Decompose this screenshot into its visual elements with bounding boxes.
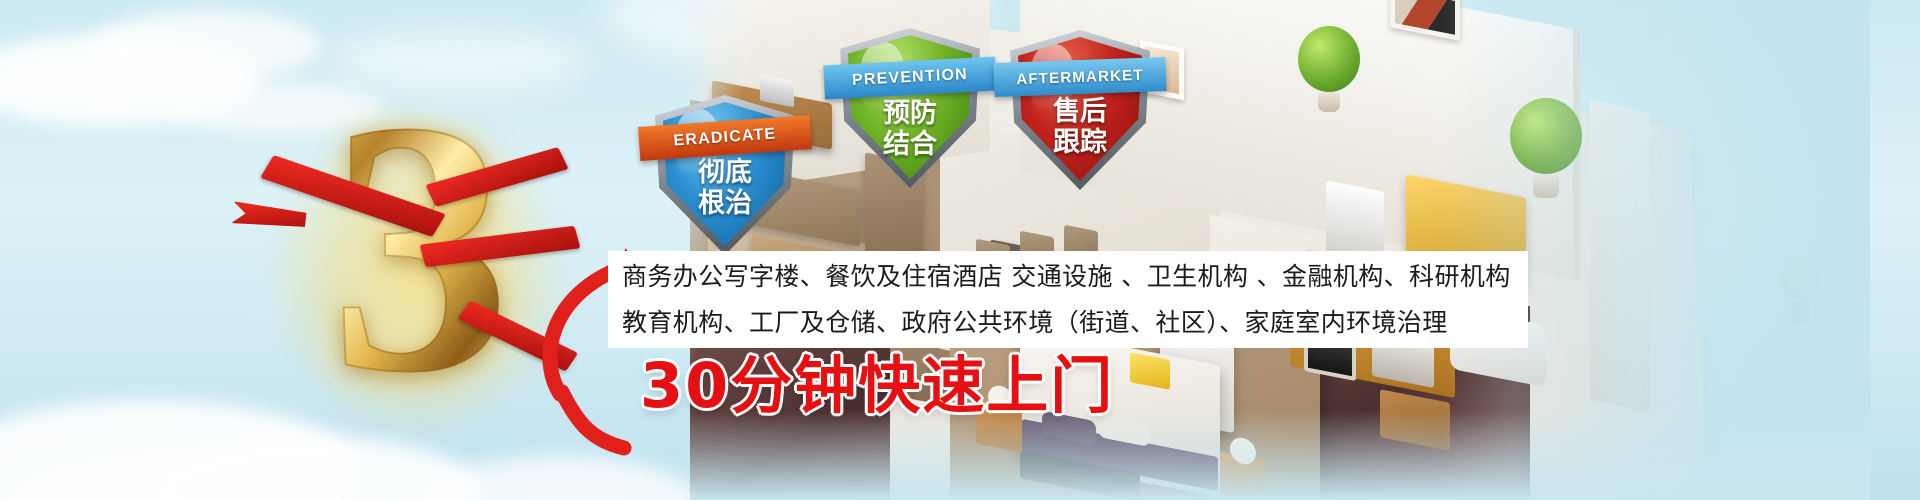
shield-band-label: AFTERMARKET <box>993 57 1166 97</box>
shield-cn-line1: 彻底 <box>655 157 795 188</box>
render-edge-fade <box>690 410 1870 500</box>
shield-cn-text: 彻底 根治 <box>655 157 795 219</box>
potted-plant <box>1298 26 1360 112</box>
promo-banner: 3 彻底 根治 ERADICATE 预防 结合 PREVENTION <box>0 0 1920 500</box>
service-scope-box: 商务办公写字楼、餐饮及住宿酒店 交通设施 、卫生机构 、金融机构、科研机构 教育… <box>608 251 1528 348</box>
shield-cn-line1: 预防 <box>840 98 980 129</box>
shield-cn-line2: 根治 <box>655 188 795 219</box>
shield-aftermarket: 售后 跟踪 AFTERMARKET <box>1010 30 1150 190</box>
service-scope-line-2: 教育机构、工厂及仓储、政府公共环境（街道、社区）、家庭室内环境治理 <box>622 300 1528 346</box>
service-scope-line-1: 商务办公写字楼、餐饮及住宿酒店 交通设施 、卫生机构 、金融机构、科研机构 <box>622 254 1528 300</box>
shield-eradicate: 彻底 根治 ERADICATE <box>655 95 795 255</box>
shield-cn-text: 预防 结合 <box>840 98 980 160</box>
cloud-shape <box>420 455 700 500</box>
shield-cn-line1: 售后 <box>1010 96 1150 127</box>
shield-cn-line2: 跟踪 <box>1010 127 1150 158</box>
shield-prevention: 预防 结合 PREVENTION <box>840 28 980 188</box>
shield-cn-line2: 结合 <box>840 129 980 160</box>
headline-text: 30分钟快速上门 <box>640 352 1114 420</box>
shield-cn-text: 售后 跟踪 <box>1010 96 1150 158</box>
